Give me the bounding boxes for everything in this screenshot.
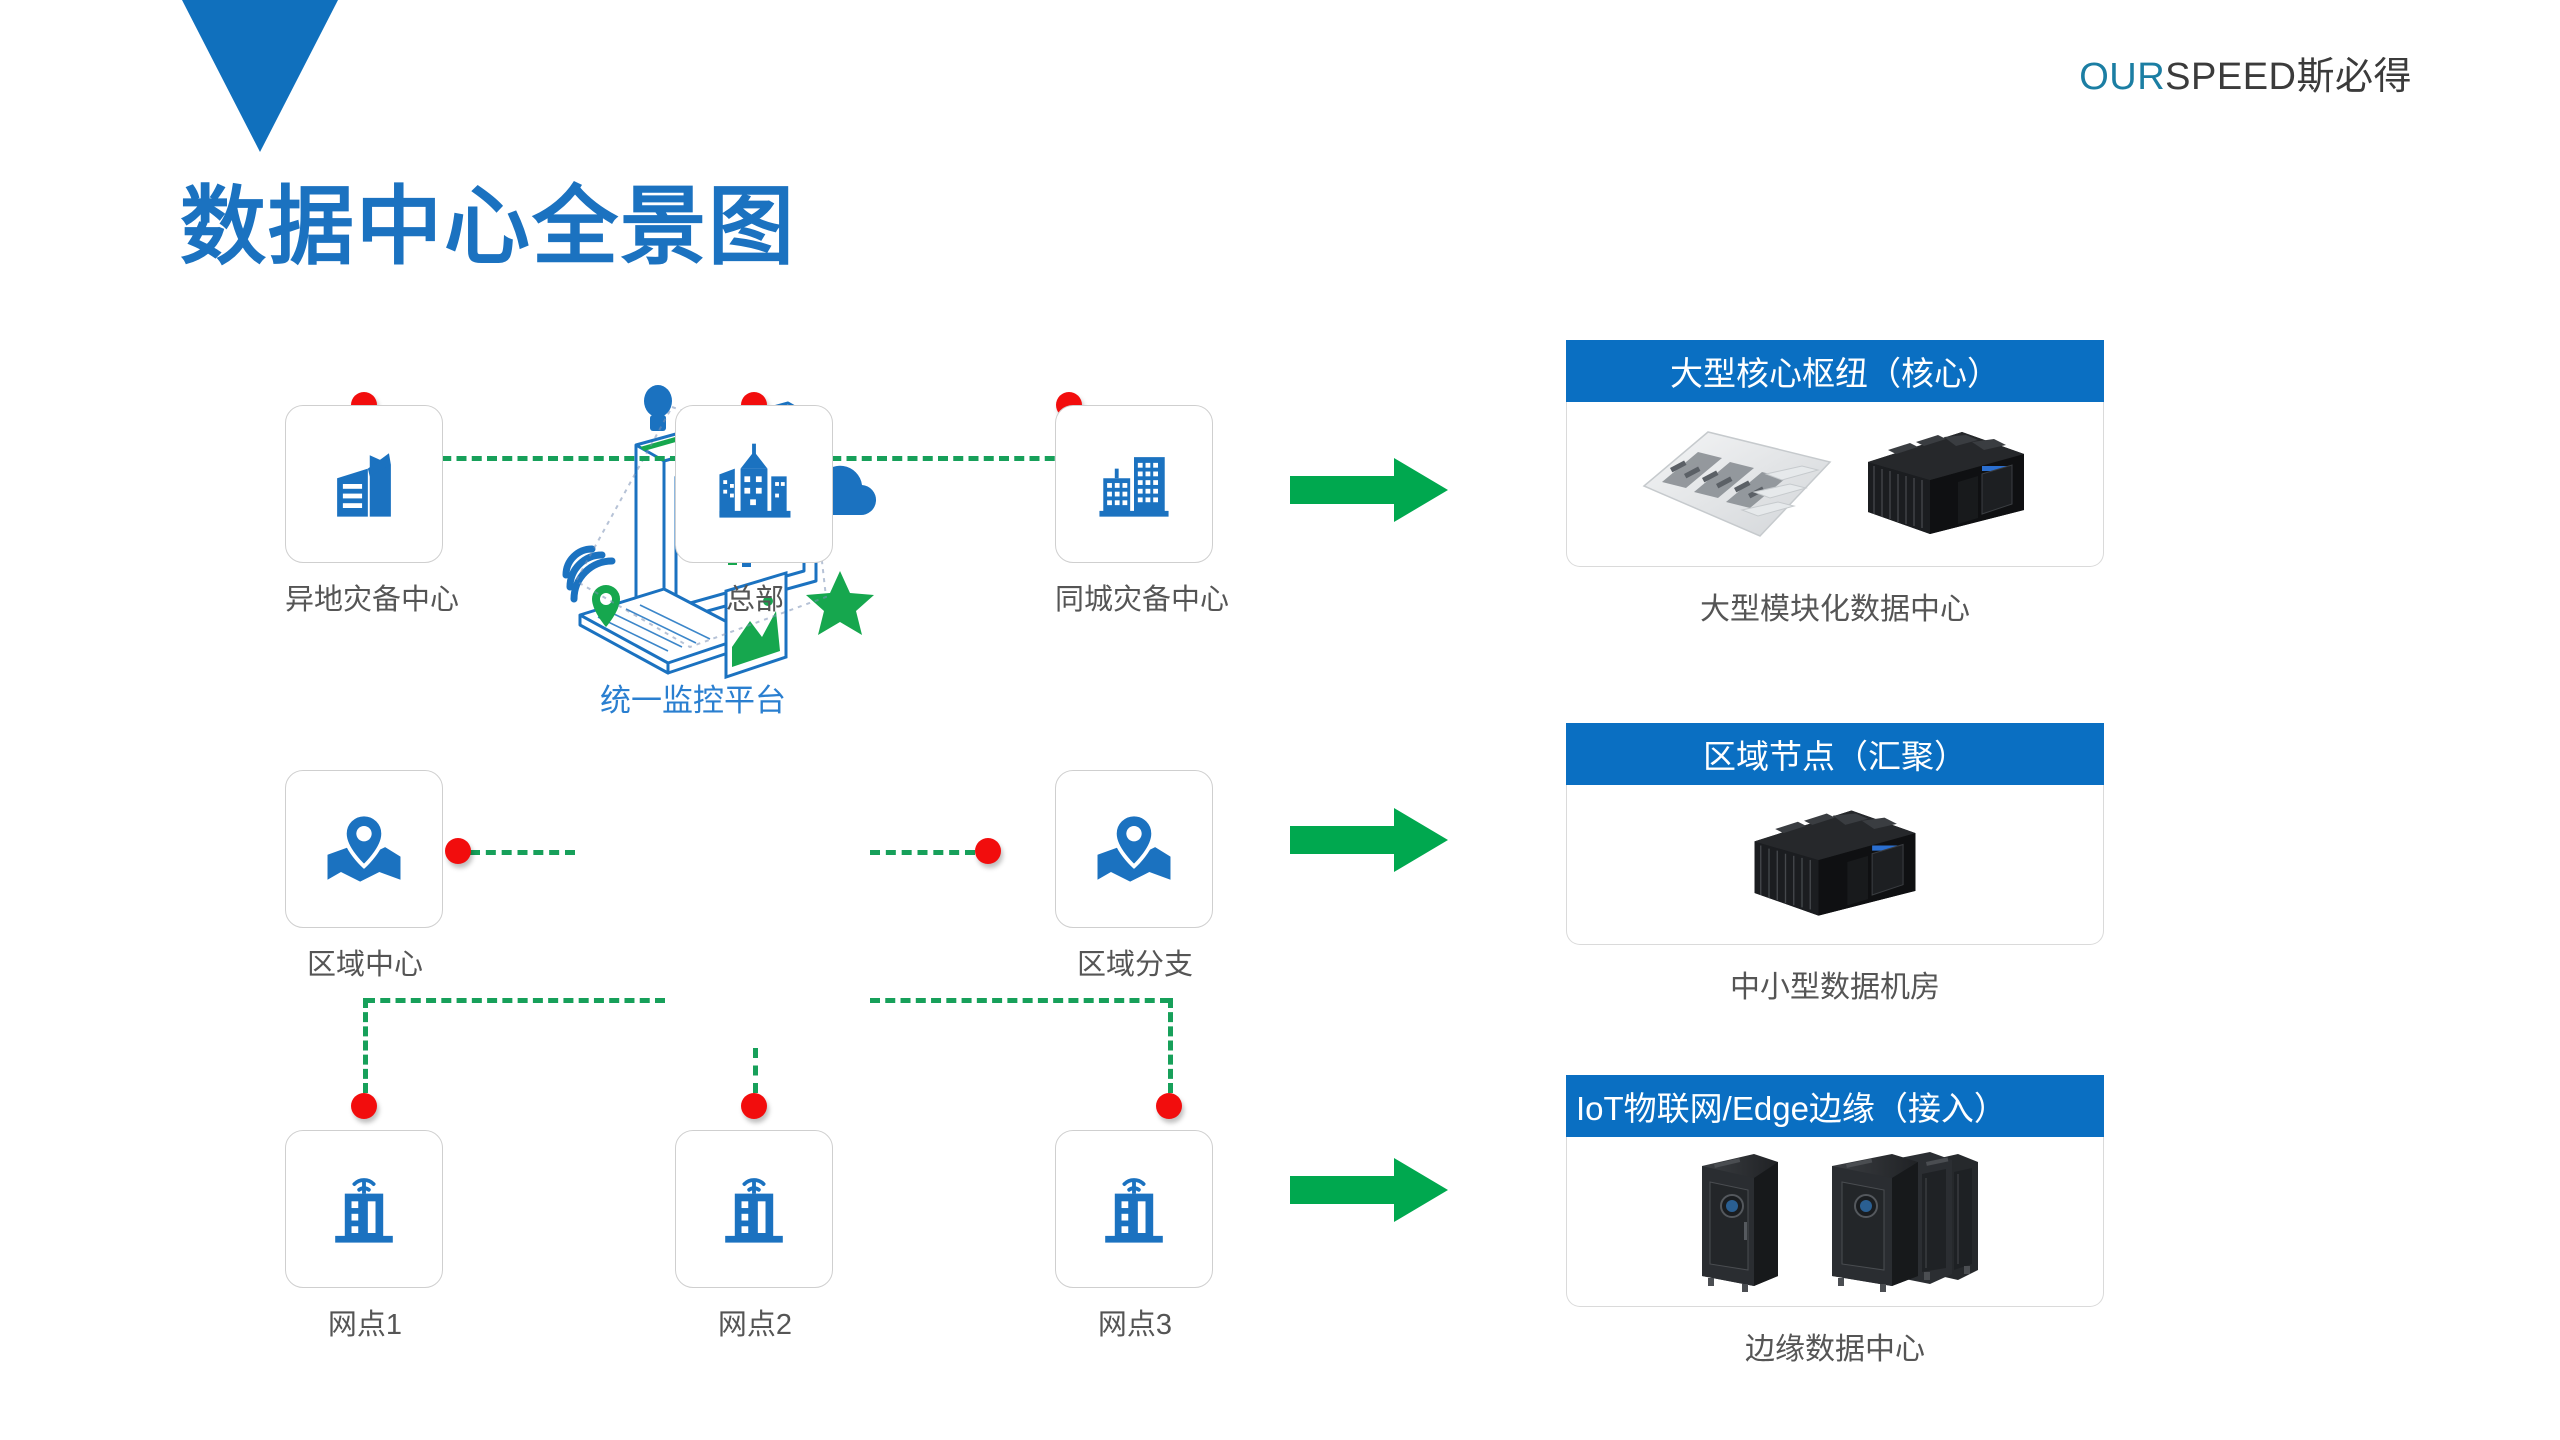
single-rack-cabinet-photo	[1680, 1144, 1796, 1299]
panel-core: 大型核心枢纽（核心）	[1566, 340, 2104, 628]
node-label: 区域中心	[285, 941, 445, 983]
node-dr-remote[interactable]: 异地灾备中心	[285, 405, 445, 618]
node-card[interactable]	[285, 405, 443, 563]
node-site3[interactable]: 网点3	[1055, 1130, 1215, 1343]
panel-header: 区域节点（汇聚）	[1566, 723, 2104, 785]
connector-line-mid-left	[470, 850, 575, 855]
panel-region: 区域节点（汇聚）	[1566, 723, 2104, 1006]
page-title: 数据中心全景图	[180, 182, 796, 272]
platform-label: 统一监控平台	[600, 675, 786, 720]
panel-body	[1566, 1137, 2104, 1307]
building-wifi-icon	[316, 1161, 412, 1257]
node-card[interactable]	[1055, 770, 1213, 928]
city-hall-building-icon	[706, 436, 802, 532]
brand-logo: OURSPEED斯必得	[2079, 58, 2412, 96]
node-card[interactable]	[1055, 1130, 1213, 1288]
node-card[interactable]	[285, 1130, 443, 1288]
map-pin-icon	[1086, 801, 1182, 897]
connector-line-bottom-right	[870, 998, 1170, 1003]
node-card[interactable]	[1055, 405, 1213, 563]
node-label: 异地灾备中心	[285, 576, 445, 618]
node-card[interactable]	[675, 405, 833, 563]
node-card[interactable]	[675, 1130, 833, 1288]
node-site1[interactable]: 网点1	[285, 1130, 445, 1343]
office-buildings-icon	[316, 436, 412, 532]
arrow-right-icon	[1290, 1150, 1450, 1235]
node-hq[interactable]: 总部	[675, 405, 835, 618]
connector-stem-site1	[363, 998, 368, 1093]
connector-stem-site2	[753, 1048, 758, 1093]
logo-primary-text: OUR	[2079, 56, 2165, 98]
node-card[interactable]	[285, 770, 443, 928]
connector-line-mid-right	[870, 850, 975, 855]
node-label: 网点2	[675, 1301, 835, 1343]
map-pin-icon	[316, 801, 412, 897]
node-label: 网点3	[1055, 1301, 1215, 1343]
arrow-right-icon	[1290, 800, 1450, 885]
panel-body	[1566, 785, 2104, 945]
node-region-center[interactable]: 区域中心	[285, 770, 445, 983]
connector-line-bottom-left	[365, 998, 665, 1003]
rack-cabinet-row-photo	[1818, 1144, 1990, 1299]
connector-dot-site1	[351, 1093, 377, 1119]
connector-dot-region-center	[445, 838, 471, 864]
panel-edge: IoT物联网/Edge边缘（接入）	[1566, 1075, 2104, 1368]
modular-datacenter-layout-photo	[1636, 418, 1836, 551]
panel-header: 大型核心枢纽（核心）	[1566, 340, 2104, 402]
building-wifi-icon	[706, 1161, 802, 1257]
panel-caption: 边缘数据中心	[1566, 1324, 2104, 1368]
logo-secondary-text: SPEED斯必得	[2165, 56, 2412, 98]
arrow-right-icon	[1290, 450, 1450, 535]
panel-body	[1566, 402, 2104, 567]
building-wifi-icon	[1086, 1161, 1182, 1257]
panel-header: IoT物联网/Edge边缘（接入）	[1566, 1075, 2104, 1137]
node-label: 区域分支	[1055, 941, 1215, 983]
twin-towers-icon	[1086, 436, 1182, 532]
node-dr-local[interactable]: 同城灾备中心	[1055, 405, 1215, 618]
topology-diagram: 统一监控平台	[0, 330, 1340, 1400]
black-container-datacenter-photo	[1858, 418, 2034, 551]
connector-stem-site3	[1168, 998, 1173, 1093]
node-site2[interactable]: 网点2	[675, 1130, 835, 1343]
connector-dot-site3	[1156, 1093, 1182, 1119]
node-label: 同城灾备中心	[1055, 576, 1215, 618]
node-label: 总部	[675, 576, 835, 618]
connector-dot-site2	[741, 1093, 767, 1119]
connector-dot-region-branch	[975, 838, 1001, 864]
node-label: 网点1	[285, 1301, 445, 1343]
brand-triangle-decoration	[182, 0, 338, 152]
black-container-datacenter-photo	[1740, 796, 1930, 933]
node-region-branch[interactable]: 区域分支	[1055, 770, 1215, 983]
panel-caption: 中小型数据机房	[1566, 962, 2104, 1006]
panel-caption: 大型模块化数据中心	[1566, 584, 2104, 628]
